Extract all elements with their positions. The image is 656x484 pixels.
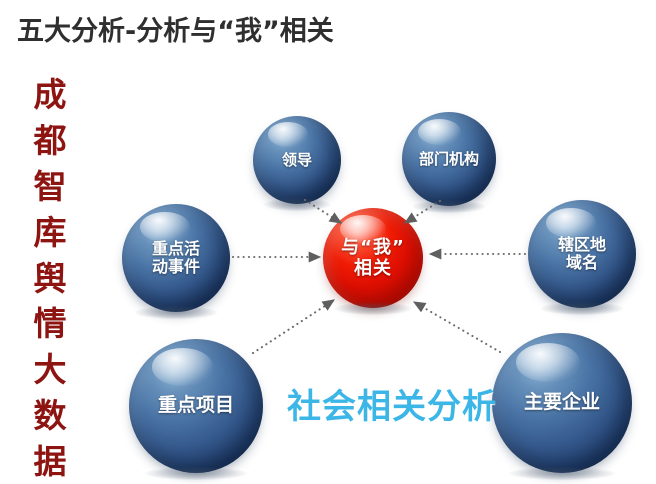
slide-canvas: 五大分析-分析与“我”相关 成 都 智 库 舆 情 大 数 据 — [0, 0, 656, 484]
node-label: 辖区地 域名 — [554, 236, 610, 272]
brand-char: 舆 — [34, 262, 67, 295]
sphere-highlight — [546, 208, 596, 238]
node-key-activity-events[interactable]: 重点活 动事件 — [122, 204, 230, 312]
node-department[interactable]: 部门机构 — [402, 112, 496, 206]
node-major-enterprises[interactable]: 主要企业 — [492, 333, 632, 473]
brand-char: 据 — [34, 445, 67, 478]
sphere-highlight — [140, 212, 190, 242]
arrow-leader-to-center — [305, 200, 341, 223]
brand-vertical-text: 成 都 智 库 舆 情 大 数 据 — [26, 78, 74, 478]
brand-char: 智 — [34, 170, 67, 203]
sphere-highlight — [268, 122, 308, 147]
brand-char: 都 — [34, 124, 67, 157]
page-title: 五大分析-分析与“我”相关 — [17, 17, 334, 47]
arrow-department-to-center — [405, 201, 440, 223]
sphere-highlight — [418, 119, 461, 145]
brand-char: 情 — [34, 307, 67, 340]
node-label: 领导 — [278, 152, 316, 169]
center-node-label: 与“我” 相关 — [337, 237, 409, 279]
node-jurisdiction-region-name[interactable]: 辖区地 域名 — [528, 200, 636, 308]
brand-char: 库 — [34, 216, 67, 249]
sphere-highlight — [516, 343, 580, 382]
node-center-related-to-me[interactable]: 与“我” 相关 — [323, 208, 423, 308]
brand-char: 成 — [34, 78, 67, 111]
brand-char: 大 — [34, 353, 67, 386]
node-leader[interactable]: 领导 — [253, 116, 341, 204]
diagram-caption: 社会相关分析 — [287, 379, 497, 428]
node-key-projects[interactable]: 重点项目 — [129, 339, 263, 473]
arrow-project-to-center — [253, 300, 334, 353]
node-label: 重点活 动事件 — [148, 240, 204, 276]
node-label: 主要企业 — [520, 392, 604, 413]
node-label: 部门机构 — [415, 151, 483, 168]
sphere-highlight — [152, 348, 214, 386]
brand-char: 数 — [34, 399, 67, 432]
node-label: 重点项目 — [154, 395, 238, 416]
arrow-enterprise-to-center — [414, 302, 500, 352]
